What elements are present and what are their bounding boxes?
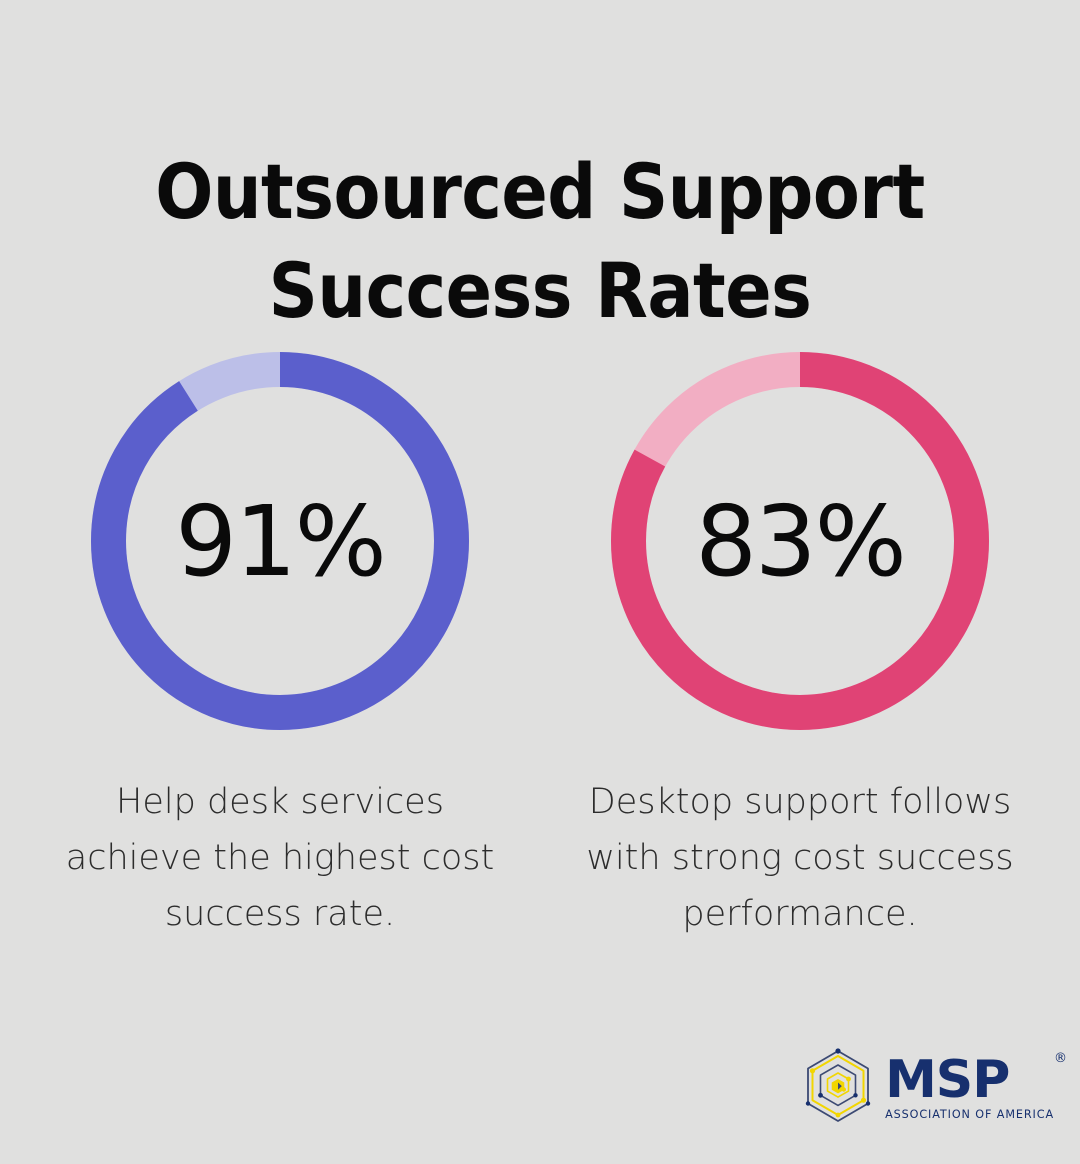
msp-wordmark: MSP ® ASSOCIATION OF AMERICA (885, 1055, 1054, 1121)
msp-wordmark-text: MSP (885, 1057, 1054, 1105)
stat-card-help-desk: 91% Help desk services achieve the highe… (90, 352, 470, 977)
infographic-page: Outsourced Support Success Rates 91% Hel… (0, 0, 1080, 1164)
donut-label-help-desk: 91% (91, 352, 469, 730)
hexagon-logo-icon (800, 1048, 876, 1128)
page-title-line-2: Success Rates (0, 242, 1080, 341)
page-title: Outsourced Support Success Rates (0, 143, 1080, 341)
stat-card-desktop-support: 83% Desktop support follows with strong … (610, 352, 990, 977)
caption-desktop-support: Desktop support follows with strong cost… (570, 774, 1030, 942)
donut-chart-desktop-support: 83% (611, 352, 989, 730)
msp-wordmark-subtitle: ASSOCIATION OF AMERICA (885, 1108, 1054, 1121)
msp-logo: MSP ® ASSOCIATION OF AMERICA (800, 1048, 1054, 1128)
registered-trademark-icon: ® (1054, 1051, 1067, 1066)
page-title-line-1: Outsourced Support (0, 143, 1080, 242)
donut-label-desktop-support: 83% (611, 352, 989, 730)
donut-chart-group: 91% Help desk services achieve the highe… (0, 352, 1080, 977)
donut-chart-help-desk: 91% (91, 352, 469, 730)
caption-help-desk: Help desk services achieve the highest c… (45, 774, 515, 942)
